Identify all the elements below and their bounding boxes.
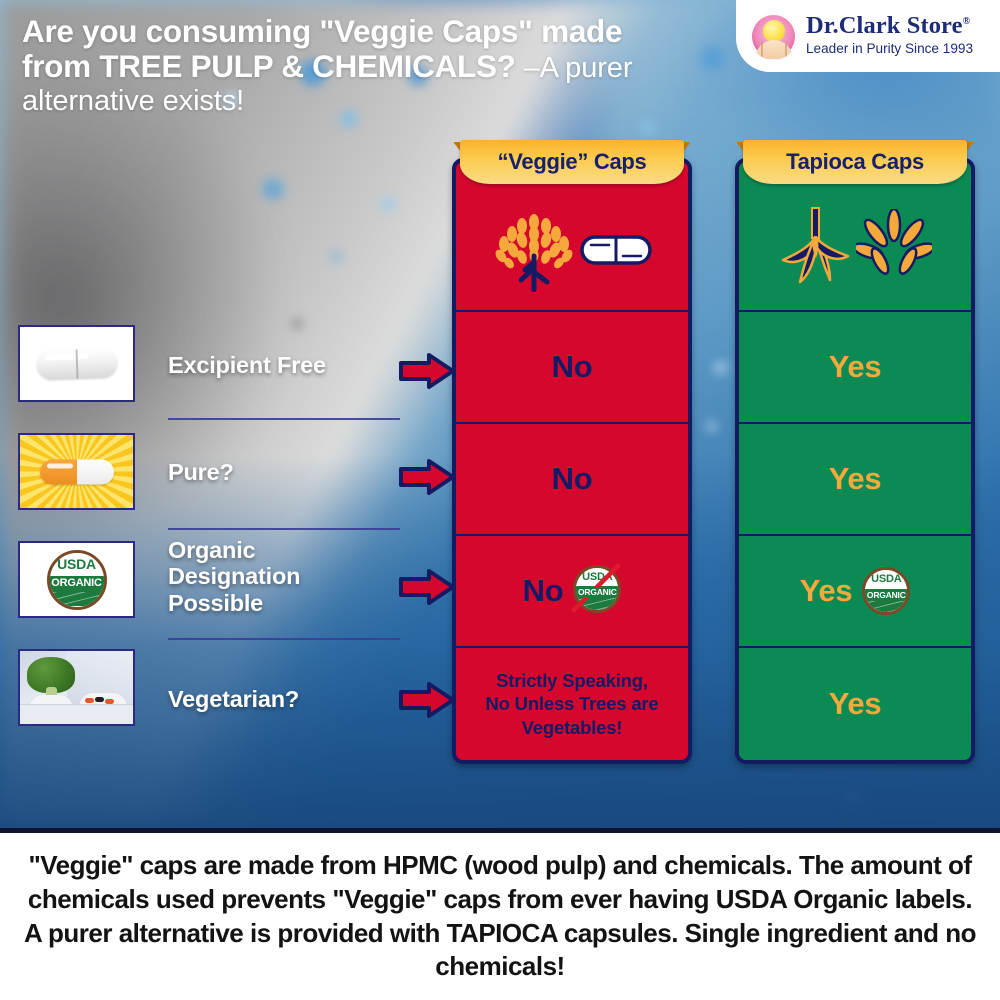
usda-seal-bottom-text: ORGANIC: [49, 577, 104, 589]
tapioca-value-excipient-free: Yes: [739, 312, 971, 424]
label-divider-3: [168, 638, 400, 640]
usda-seal-shape: USDA ORGANIC: [47, 550, 107, 610]
orange-capsule-shape: [40, 459, 114, 484]
row-label-vegetarian: Vegetarian?: [168, 686, 299, 712]
white-capsule-photo: [20, 327, 133, 400]
comparison-column-veggie: No No No USDA ORGANIC Strict: [452, 158, 692, 764]
capsule-shape: [36, 348, 117, 380]
logo-text-block: Dr.Clark Store® Leader in Purity Since 1…: [806, 14, 973, 57]
veggie-value-excipient-free: No: [456, 312, 688, 424]
brand-tagline: Leader in Purity Since 1993: [806, 41, 973, 58]
tapioca-value-text-2: Yes: [829, 461, 882, 497]
red-right-arrow-icon-1: [398, 352, 456, 390]
row-label-organic: Organic Designation Possible: [168, 537, 300, 616]
tapioca-value-text-3: Yes: [800, 573, 853, 609]
tree-icon: [491, 206, 577, 292]
hands-shape: [755, 40, 793, 59]
brand-name-text: Dr.Clark Store: [806, 12, 963, 39]
veggie-value-organic: No USDA ORGANIC: [456, 536, 688, 648]
red-right-arrow-icon-2: [398, 458, 456, 496]
label-divider-1: [168, 418, 400, 420]
usda-approved-top-text: USDA: [871, 573, 901, 585]
page-headline: Are you consuming "Veggie Caps" made fro…: [22, 14, 732, 117]
column-header-text-tapioca: Tapioca Caps: [786, 149, 924, 175]
footer-caption-text: "Veggie" caps are made from HPMC (wood p…: [0, 849, 1000, 984]
row-label-organic-line-3: Possible: [168, 590, 300, 616]
row-thumbnail-vegetarian: [18, 649, 135, 726]
column-header-text-veggie: “Veggie” Caps: [498, 149, 647, 175]
veggie-icon-cell: [456, 162, 688, 312]
row-thumbnail-organic: USDA ORGANIC: [18, 541, 135, 618]
tapioca-value-vegetarian: Yes: [739, 648, 971, 760]
usda-crossed-bottom-text: ORGANIC: [576, 587, 619, 597]
headline-line-2-bold: from TREE PULP & CHEMICALS?: [22, 48, 516, 84]
tapioca-value-pure: Yes: [739, 424, 971, 536]
headline-line-2-light: –A purer: [516, 52, 633, 84]
column-header-banner-tapioca: Tapioca Caps: [743, 140, 967, 184]
veggie-value-text-2: No: [552, 461, 593, 497]
usda-approved-bottom-text: ORGANIC: [865, 590, 908, 600]
headline-line-3: alternative exists!: [22, 85, 244, 117]
footer-caption-band: "Veggie" caps are made from HPMC (wood p…: [0, 828, 1000, 1000]
row-thumbnail-excipient-free: [18, 325, 135, 402]
brand-name: Dr.Clark Store®: [806, 14, 973, 39]
veggie-vegetarian-line-1: Strictly Speaking,: [485, 669, 658, 692]
tapioca-icon-cell: [739, 162, 971, 312]
comparison-column-tapioca: Yes Yes Yes USDA ORGANIC Yes: [735, 158, 975, 764]
usda-seal-approved: USDA ORGANIC: [862, 567, 910, 615]
row-label-excipient-free: Excipient Free: [168, 352, 326, 378]
red-right-arrow-icon-4: [398, 681, 456, 719]
broccoli-and-pills-photo: [20, 651, 133, 724]
veggie-value-vegetarian: Strictly Speaking, No Unless Trees are V…: [456, 648, 688, 760]
cassava-leaf-icon: [856, 209, 932, 285]
veggie-vegetarian-line-3: Vegetables!: [485, 716, 658, 739]
row-thumbnail-pure: [18, 433, 135, 510]
row-label-organic-line-1: Organic: [168, 537, 300, 563]
veggie-vegetarian-line-2: No Unless Trees are: [485, 692, 658, 715]
veggie-value-text-3: No: [523, 573, 564, 609]
row-label-pure: Pure?: [168, 459, 234, 485]
red-right-arrow-icon-3: [398, 568, 456, 606]
brand-logo[interactable]: Dr.Clark Store® Leader in Purity Since 1…: [736, 0, 1000, 72]
hands-holding-sun-icon: [750, 13, 797, 60]
label-divider-2: [168, 528, 400, 530]
tapioca-value-organic: Yes USDA ORGANIC: [739, 536, 971, 648]
row-label-organic-line-2: Designation: [168, 563, 300, 589]
tapioca-value-text-1: Yes: [829, 349, 882, 385]
registered-mark: ®: [963, 16, 971, 27]
cassava-root-icon: [778, 204, 850, 290]
usda-organic-seal: USDA ORGANIC: [20, 543, 133, 616]
usda-seal-top-text: USDA: [57, 556, 96, 572]
capsule-icon: [579, 229, 653, 269]
veggie-value-pure: No: [456, 424, 688, 536]
sunburst-capsule-photo: [20, 435, 133, 508]
tapioca-value-text-4: Yes: [829, 686, 882, 722]
usda-seal-crossed: USDA ORGANIC: [573, 565, 621, 618]
column-header-banner-veggie: “Veggie” Caps: [460, 140, 684, 184]
headline-line-1: Are you consuming "Veggie Caps" made: [22, 13, 622, 49]
veggie-value-text-1: No: [552, 349, 593, 385]
